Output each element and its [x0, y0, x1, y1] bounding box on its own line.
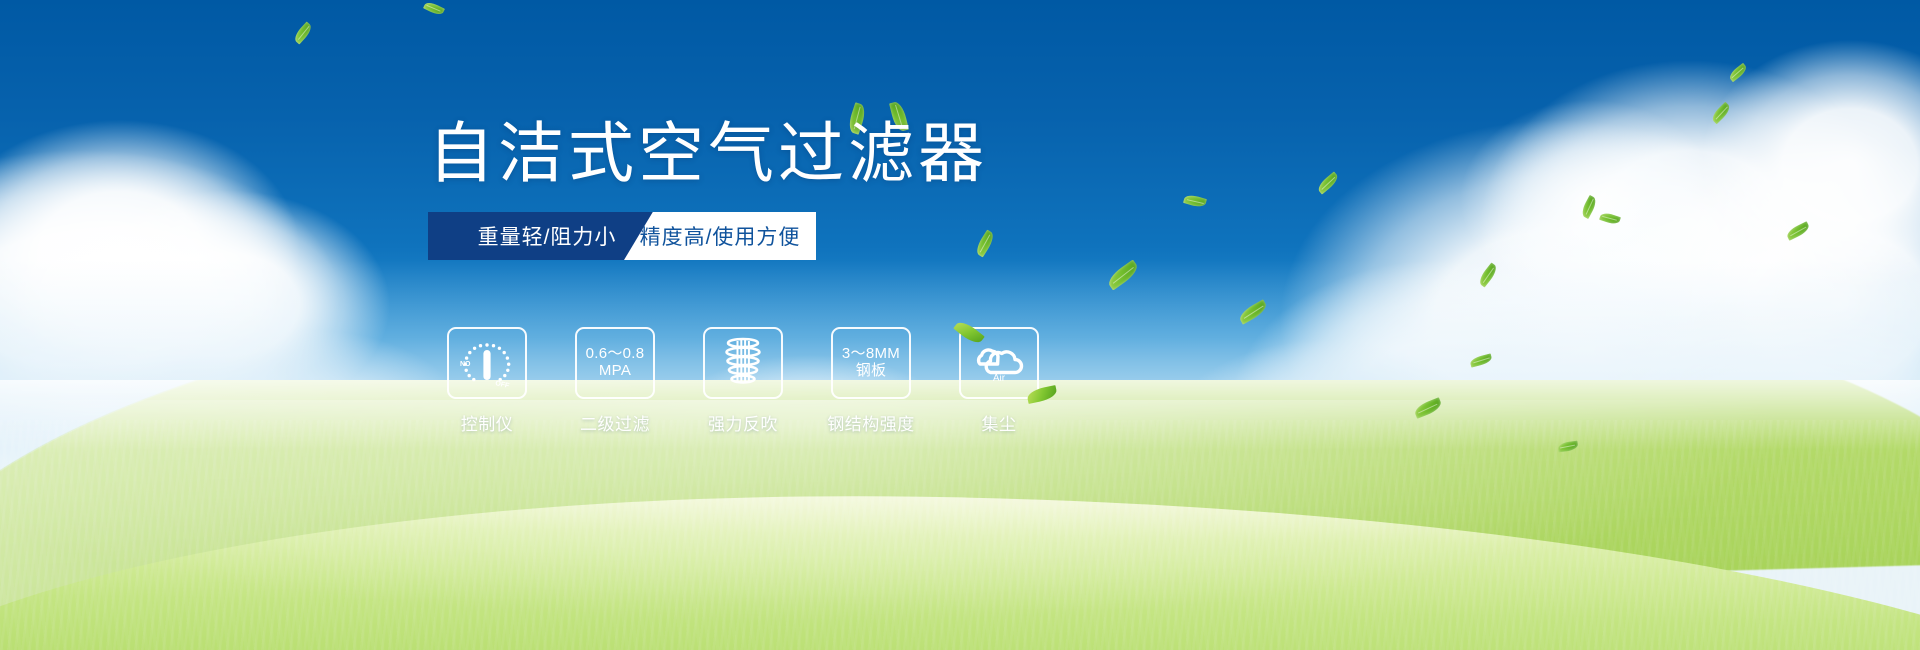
feature-list: NO OFF 控制仪 0.6～0.8 MPA 二级过滤 — [436, 327, 1050, 435]
feature-caption: 强力反吹 — [708, 410, 778, 435]
pressure-value-line1: 0.6～0.8 — [586, 346, 645, 363]
leaf-icon — [1105, 260, 1141, 291]
feature-item: NO OFF 控制仪 — [436, 327, 538, 435]
page-title: 自洁式空气过滤器 — [428, 120, 1188, 186]
feature-icon-box: Air — [959, 327, 1039, 399]
leaf-icon — [1599, 211, 1621, 226]
leaf-icon — [1477, 262, 1500, 287]
feature-icon-box — [703, 327, 783, 399]
feature-item: Air 集尘 — [948, 327, 1050, 435]
leaf-icon — [1237, 299, 1269, 324]
cloud-air-icon: Air — [970, 342, 1028, 382]
banner-content: 自洁式空气过滤器 重量轻/阻力小 精度高/使用方便 — [428, 120, 1188, 260]
steel-value-line2: 钢板 — [856, 363, 887, 380]
feature-icon-box: 3～8MM 钢板 — [831, 327, 911, 399]
feature-caption: 钢结构强度 — [827, 410, 915, 435]
cloud-shape — [1700, 40, 1920, 290]
feature-icon-box: 0.6～0.8 MPA — [575, 327, 655, 399]
leaf-icon — [292, 21, 314, 44]
svg-text:OFF: OFF — [495, 380, 511, 390]
gauge-icon: NO OFF — [457, 336, 517, 390]
svg-text:NO: NO — [460, 361, 471, 368]
cloud-shape — [10, 215, 240, 375]
leaf-icon — [423, 0, 445, 17]
cloud-shape — [1480, 60, 1900, 390]
cloud-shape — [1460, 100, 1720, 300]
leaf-icon — [1579, 195, 1598, 219]
leaf-icon — [1469, 353, 1493, 367]
leaf-icon — [1710, 102, 1733, 124]
feature-item: 3～8MM 钢板 钢结构强度 — [820, 327, 922, 435]
leaf-icon — [1316, 171, 1341, 194]
steel-value-line1: 3～8MM — [842, 346, 900, 363]
hero-banner: 自洁式空气过滤器 重量轻/阻力小 精度高/使用方便 — [0, 0, 1920, 650]
cloud-air-label: Air — [993, 373, 1006, 382]
feature-caption: 控制仪 — [461, 410, 514, 435]
feature-item: 强力反吹 — [692, 327, 794, 435]
tagline-badge-secondary: 精度高/使用方便 — [624, 212, 816, 260]
tagline-badges: 重量轻/阻力小 精度高/使用方便 — [428, 212, 816, 260]
feature-icon-box: NO OFF — [447, 327, 527, 399]
pressure-value-line2: MPA — [599, 363, 631, 380]
feature-caption: 集尘 — [982, 410, 1017, 435]
cloud-shape — [0, 120, 300, 380]
feature-caption: 二级过滤 — [580, 410, 650, 435]
leaf-icon — [1727, 63, 1748, 82]
coil-icon — [716, 336, 770, 390]
feature-item: 0.6～0.8 MPA 二级过滤 — [564, 327, 666, 435]
leaf-icon — [1785, 221, 1811, 241]
